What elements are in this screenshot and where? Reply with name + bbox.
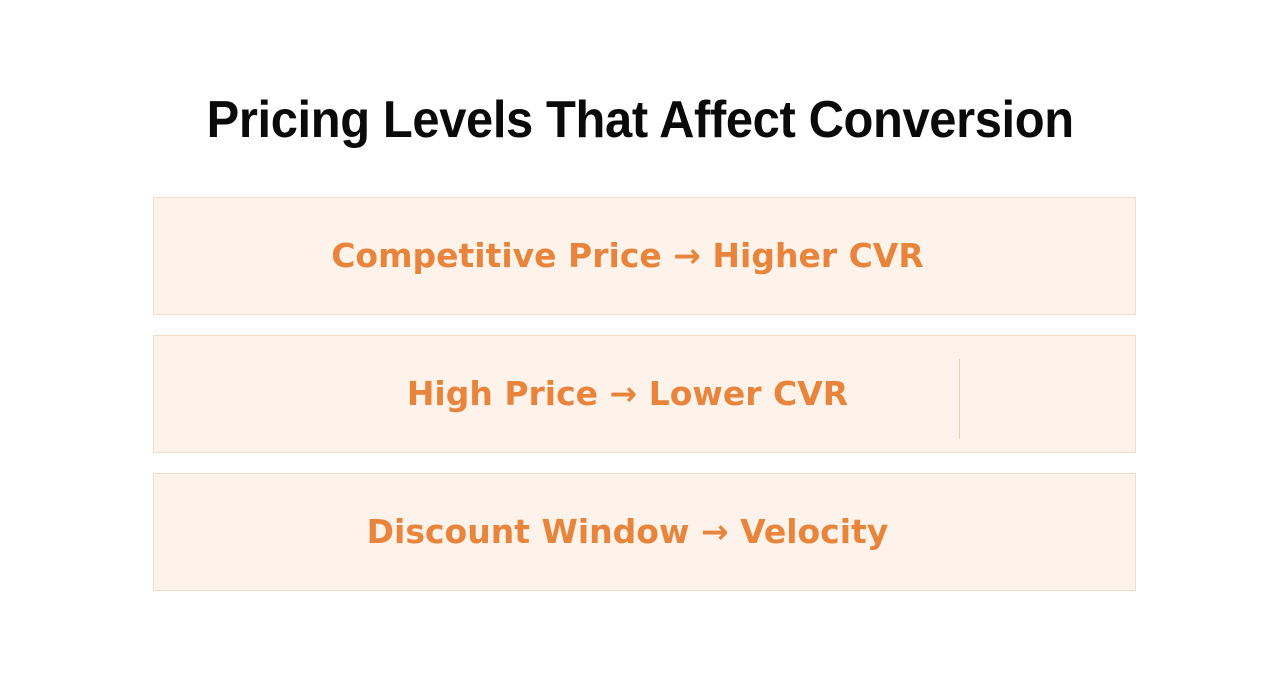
pricing-level-card-discount-window[interactable]: Discount Window → Velocity	[153, 473, 1136, 591]
pricing-level-card-high-price[interactable]: High Price → Lower CVR	[153, 335, 1136, 453]
pricing-level-card-competitive-price[interactable]: Competitive Price → Higher CVR	[153, 197, 1136, 315]
pricing-level-card-stack: Competitive Price → Higher CVR High Pric…	[153, 197, 1136, 591]
page-title-block: Pricing Levels That Affect Conversion	[0, 92, 1281, 148]
page-title: Pricing Levels That Affect Conversion	[207, 92, 1074, 148]
vertical-divider-line	[959, 359, 960, 439]
pricing-level-label: High Price → Lower CVR	[407, 375, 848, 413]
pricing-level-label: Competitive Price → Higher CVR	[331, 237, 924, 275]
slide-canvas: Pricing Levels That Affect Conversion Co…	[0, 0, 1281, 676]
pricing-level-label: Discount Window → Velocity	[367, 513, 889, 551]
